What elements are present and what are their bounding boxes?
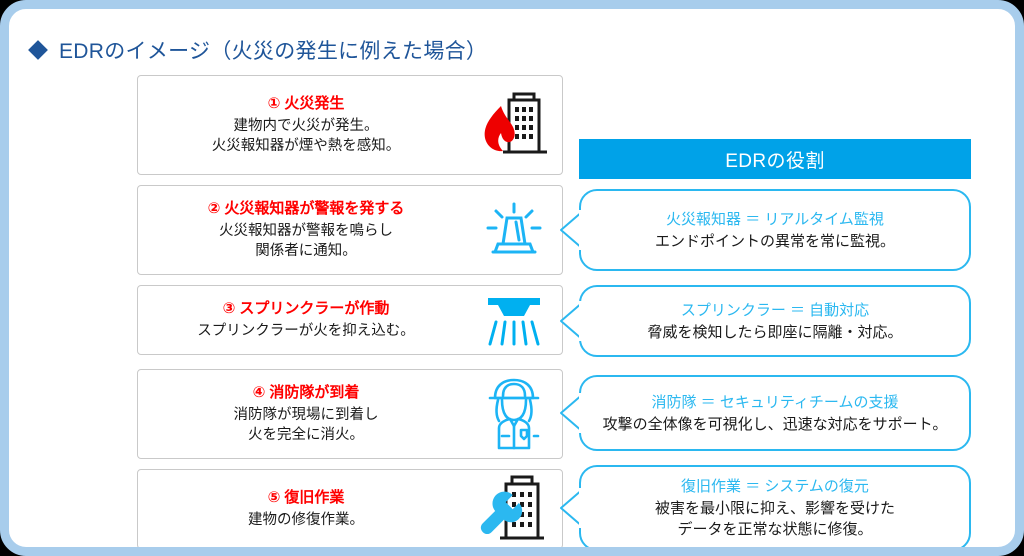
step-body-4: 消防隊が現場に到着し 火を完全に消火。	[148, 405, 464, 445]
step-box-1: ① 火災発生 建物内で火災が発生。 火災報知器が煙や熱を感知。	[137, 75, 563, 175]
callout-text-4: 復旧作業 ＝ システムの復元 被害を最小限に抑え、影響を受けた データを正常な状…	[641, 470, 909, 546]
firefighter-icon	[466, 376, 562, 452]
callout-box-2: スプリンクラー ＝ 自動対応 脅威を検知したら即座に隔離・対応。	[579, 285, 971, 357]
step-body-1: 建物内で火災が発生。 火災報知器が煙や熱を感知。	[148, 116, 464, 156]
step-body-2: 火災報知器が警報を鳴らし 関係者に通知。	[148, 221, 464, 261]
callout-text-1: 火災報知器 ＝ リアルタイム監視 エンドポイントの異常を常に監視。	[641, 203, 909, 258]
step-heading-3: ③ スプリンクラーが作動	[148, 299, 464, 320]
edr-role-header-label: EDRの役割	[725, 146, 825, 173]
callout-text-3: 消防隊 ＝ セキュリティチームの支援 攻撃の全体像を可視化し、迅速な対応をサポー…	[589, 386, 962, 441]
callout-box-4: 復旧作業 ＝ システムの復元 被害を最小限に抑え、影響を受けた データを正常な状…	[579, 465, 971, 551]
step-text-5: ⑤ 復旧作業 建物の修復作業。	[138, 484, 466, 534]
callout-heading-4: 復旧作業 ＝ システムの復元	[655, 476, 895, 497]
callout-text-2: スプリンクラー ＝ 自動対応 脅威を検知したら即座に隔離・対応。	[633, 294, 916, 349]
sprinkler-icon	[466, 290, 562, 350]
callout-body-1: エンドポイントの異常を常に監視。	[655, 231, 895, 252]
callout-heading-2: スプリンクラー ＝ 自動対応	[647, 300, 902, 321]
step-body-3: スプリンクラーが火を抑え込む。	[148, 321, 464, 341]
slide-canvas: EDRのイメージ（火災の発生に例えた場合） ① 火災発生 建物内で火災が発生。 …	[0, 0, 1024, 556]
step-heading-2: ② 火災報知器が警報を発する	[148, 199, 464, 220]
step-text-1: ① 火災発生 建物内で火災が発生。 火災報知器が煙や熱を感知。	[138, 90, 466, 160]
step-heading-1: ① 火災発生	[148, 94, 464, 115]
step-heading-4: ④ 消防隊が到着	[148, 383, 464, 404]
burning-building-icon	[466, 90, 562, 160]
edr-role-header: EDRの役割	[579, 139, 971, 179]
callout-heading-3: 消防隊 ＝ セキュリティチームの支援	[603, 392, 948, 413]
alarm-siren-icon	[466, 198, 562, 262]
step-box-2: ② 火災報知器が警報を発する 火災報知器が警報を鳴らし 関係者に通知。	[137, 185, 563, 275]
diamond-bullet-icon	[28, 40, 48, 60]
callout-body-4: 被害を最小限に抑え、影響を受けた データを正常な状態に修復。	[655, 498, 895, 540]
slide-title-row: EDRのイメージ（火災の発生に例えた場合）	[31, 35, 487, 65]
building-repair-icon	[466, 472, 562, 546]
callout-box-3: 消防隊 ＝ セキュリティチームの支援 攻撃の全体像を可視化し、迅速な対応をサポー…	[579, 375, 971, 451]
step-heading-5: ⑤ 復旧作業	[148, 488, 464, 509]
callout-box-1: 火災報知器 ＝ リアルタイム監視 エンドポイントの異常を常に監視。	[579, 189, 971, 271]
callout-body-2: 脅威を検知したら即座に隔離・対応。	[647, 322, 902, 343]
step-box-4: ④ 消防隊が到着 消防隊が現場に到着し 火を完全に消火。	[137, 369, 563, 459]
step-text-4: ④ 消防隊が到着 消防隊が現場に到着し 火を完全に消火。	[138, 379, 466, 449]
step-box-3: ③ スプリンクラーが作動 スプリンクラーが火を抑え込む。	[137, 285, 563, 355]
callout-heading-1: 火災報知器 ＝ リアルタイム監視	[655, 209, 895, 230]
step-body-5: 建物の修復作業。	[148, 510, 464, 530]
callout-body-3: 攻撃の全体像を可視化し、迅速な対応をサポート。	[603, 414, 948, 435]
step-text-3: ③ スプリンクラーが作動 スプリンクラーが火を抑え込む。	[138, 295, 466, 345]
page-title: EDRのイメージ（火災の発生に例えた場合）	[59, 35, 487, 65]
step-box-5: ⑤ 復旧作業 建物の修復作業。	[137, 469, 563, 549]
step-text-2: ② 火災報知器が警報を発する 火災報知器が警報を鳴らし 関係者に通知。	[138, 195, 466, 265]
